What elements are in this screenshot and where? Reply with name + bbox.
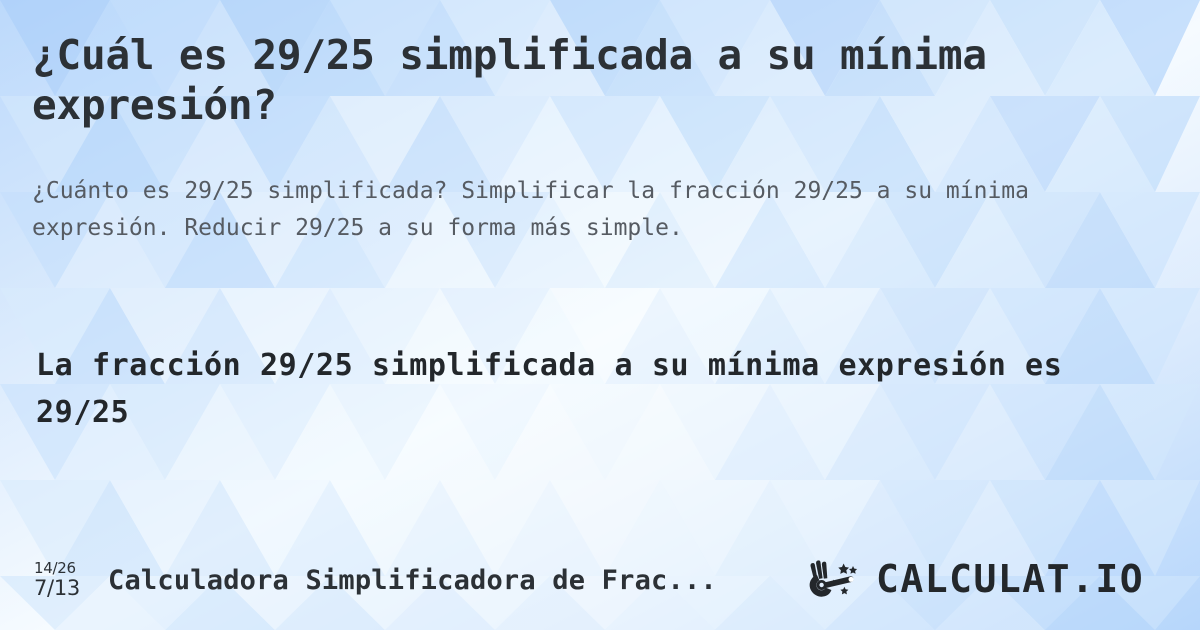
fraction-icon-simplified: 7/13	[34, 578, 80, 599]
page-title: ¿Cuál es 29/25 simplificada a su mínima …	[32, 30, 1042, 130]
share-card: ¿Cuál es 29/25 simplificada a su mínima …	[0, 0, 1200, 630]
brand-logo[interactable]: CALCULAT.IO	[806, 557, 1166, 603]
page-description: ¿Cuánto es 29/25 simplificada? Simplific…	[32, 173, 1107, 248]
card-footer: 14/26 7/13 Calculadora Simplificadora de…	[0, 552, 1200, 608]
fraction-icon-original: 14/26	[34, 561, 76, 576]
magic-wand-hand-icon	[806, 557, 870, 603]
answer-statement: La fracción 29/25 simplificada a su míni…	[36, 342, 1096, 437]
footer-left-group: 14/26 7/13 Calculadora Simplificadora de…	[34, 561, 717, 599]
calculatio-wordmark-text: CALCULAT.IO	[876, 559, 1144, 601]
calculatio-wordmark: CALCULAT.IO	[876, 559, 1166, 601]
card-content: ¿Cuál es 29/25 simplificada a su mínima …	[0, 0, 1200, 630]
fraction-simplify-icon: 14/26 7/13	[34, 561, 92, 599]
footer-site-title: Calculadora Simplificadora de Frac...	[108, 565, 717, 596]
